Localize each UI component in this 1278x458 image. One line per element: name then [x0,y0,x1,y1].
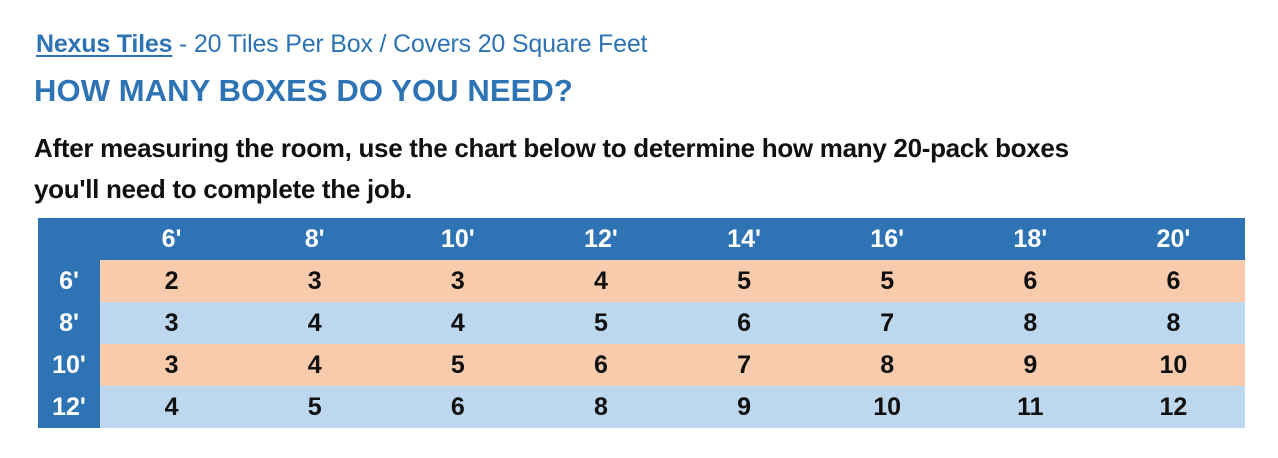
table-cell: 11 [959,386,1102,428]
table-cell: 6 [386,386,529,428]
coverage-chart-table: 6' 8' 10' 12' 14' 16' 18' 20' 6' 2 3 3 4… [38,218,1245,428]
table-cell: 5 [529,302,672,344]
table-cell: 3 [386,260,529,302]
table-header-row: 6' 8' 10' 12' 14' 16' 18' 20' [38,218,1245,260]
table-cell: 8 [959,302,1102,344]
table-cell: 6 [529,344,672,386]
table-cell: 5 [673,260,816,302]
table-cell: 3 [100,302,243,344]
column-header: 20' [1102,218,1245,260]
subtitle-detail: - 20 Tiles Per Box / Covers 20 Square Fe… [172,30,647,58]
table-cell: 5 [243,386,386,428]
table-cell: 3 [243,260,386,302]
column-header: 12' [529,218,672,260]
table-cell: 4 [243,344,386,386]
table-cell: 6 [959,260,1102,302]
table-cell: 12 [1102,386,1245,428]
table-cell: 8 [1102,302,1245,344]
body-line-2: you'll need to complete the job. [34,169,1249,210]
table-cell: 4 [386,302,529,344]
brand-link[interactable]: Nexus Tiles [36,30,172,58]
table-cell: 8 [529,386,672,428]
table-body: 6' 8' 10' 12' 14' 16' 18' 20' 6' 2 3 3 4… [38,218,1245,428]
table-cell: 7 [816,302,959,344]
body-line-1: After measuring the room, use the chart … [34,128,1249,169]
table-row: 12' 4 5 6 8 9 10 11 12 [38,386,1245,428]
row-header: 12' [38,386,100,428]
row-header: 6' [38,260,100,302]
column-header: 16' [816,218,959,260]
table-cell: 9 [673,386,816,428]
body-paragraph: After measuring the room, use the chart … [34,128,1249,210]
table-cell: 10 [1102,344,1245,386]
table-cell: 4 [529,260,672,302]
page-title: HOW MANY BOXES DO YOU NEED? [34,73,573,109]
column-header: 8' [243,218,386,260]
table-cell: 4 [100,386,243,428]
table-cell: 7 [673,344,816,386]
table-corner-cell [38,218,100,260]
table-cell: 9 [959,344,1102,386]
product-subtitle: Nexus Tiles - 20 Tiles Per Box / Covers … [36,29,647,59]
row-header: 8' [38,302,100,344]
table-cell: 3 [100,344,243,386]
table-cell: 6 [673,302,816,344]
table-row: 8' 3 4 4 5 6 7 8 8 [38,302,1245,344]
row-header: 10' [38,344,100,386]
table-cell: 2 [100,260,243,302]
column-header: 18' [959,218,1102,260]
table-cell: 8 [816,344,959,386]
page-container: Nexus Tiles - 20 Tiles Per Box / Covers … [0,0,1278,458]
column-header: 14' [673,218,816,260]
table-cell: 6 [1102,260,1245,302]
column-header: 6' [100,218,243,260]
table-row: 6' 2 3 3 4 5 5 6 6 [38,260,1245,302]
table-cell: 10 [816,386,959,428]
table-row: 10' 3 4 5 6 7 8 9 10 [38,344,1245,386]
table-cell: 5 [386,344,529,386]
table-cell: 4 [243,302,386,344]
table-cell: 5 [816,260,959,302]
column-header: 10' [386,218,529,260]
